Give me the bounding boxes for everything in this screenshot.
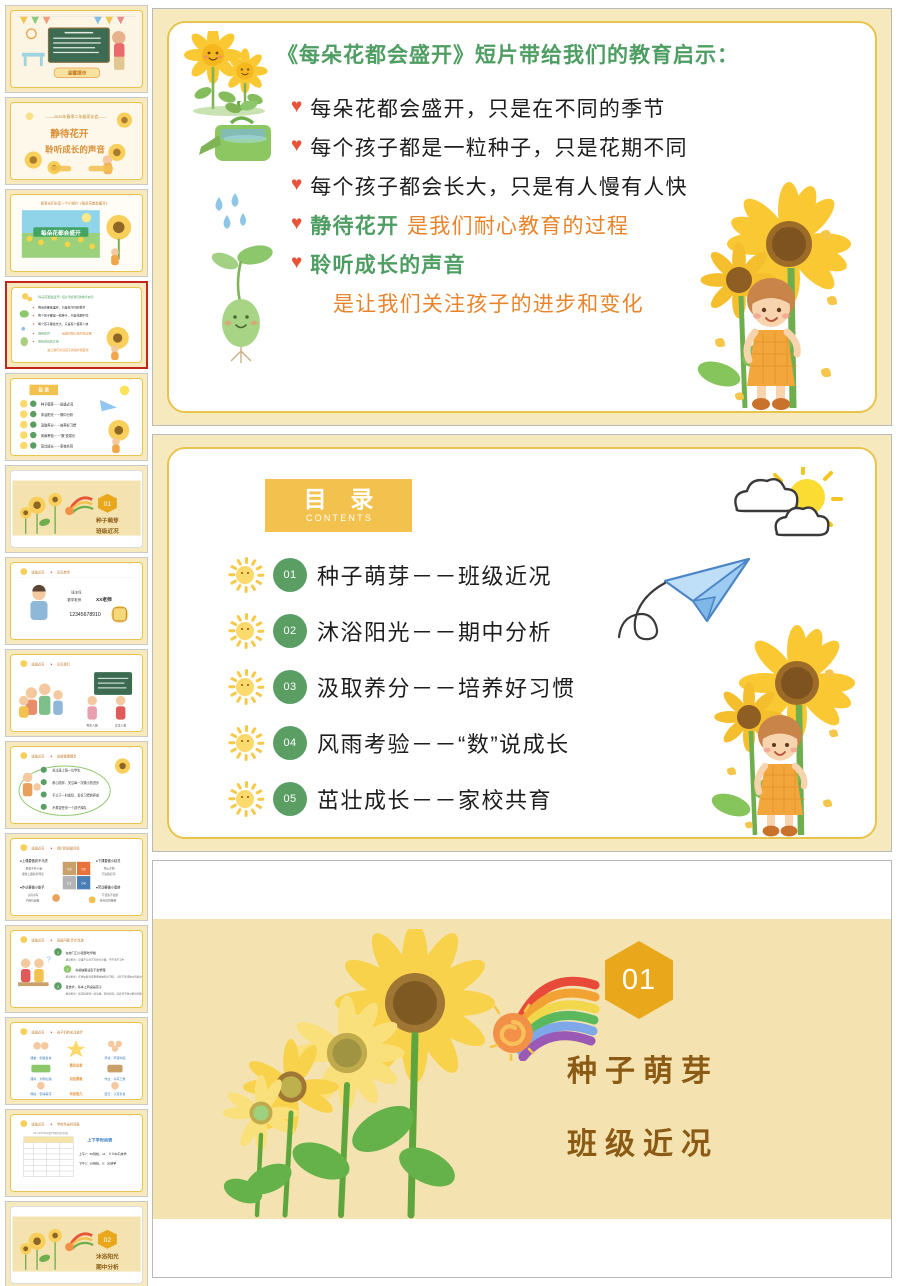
contents-header: 目 录 CONTENTS [265, 479, 412, 532]
svg-text:茁壮成长－－家校共育: 茁壮成长－－家校共育 [41, 443, 74, 448]
svg-text:课堂上跟着老师走: 课堂上跟着老师走 [22, 872, 44, 876]
svg-text:班级近况: 班级近况 [31, 937, 45, 942]
svg-text:●下课要做小精灵: ●下课要做小精灵 [96, 858, 121, 863]
svg-text:在校门口小卖部吃早餐: 在校门口小卖部吃早餐 [66, 950, 96, 955]
svg-text:♥: ♥ [33, 322, 35, 326]
smiling-sun-icon [227, 557, 263, 593]
insight-bullet-5-text: 聆听成长的声音 [310, 249, 465, 279]
svg-text:《每朵花都会盛开》短片带给我们的教育启示:: 《每朵花都会盛开》短片带给我们的教育启示: [36, 294, 94, 299]
svg-text:每个孩子都是一粒种子，只是花期不同: 每个孩子都是一粒种子，只是花期不同 [38, 313, 88, 318]
contents-item-04-number: 04 [273, 726, 307, 760]
svg-text:02: 02 [82, 867, 86, 871]
slide-section-01[interactable]: 01 种子萌芽 班级近况 [152, 860, 892, 1278]
slide-thumbnail-meeting-rules[interactable]: 温馨提示 [5, 5, 148, 93]
presentation-editor: 温馨提示 ——2025年春季二年级家长会—— 静待花开 聆听成长的声音 [0, 0, 900, 1286]
insight-bullet-3: ♥ 每个孩子都会长大，只是有人慢有人快 [291, 171, 831, 201]
paper-plane-icon [601, 545, 767, 687]
raindrops-icon [207, 191, 259, 243]
smiling-sun-icon [227, 725, 263, 761]
svg-text:班级近况: 班级近况 [31, 1029, 45, 1034]
svg-text:值日：认真负责: 值日：认真负责 [104, 1091, 125, 1096]
thumbnail-art-highlights: 班级近况 ♥ 孩子们的关注进步 课堂：积极发言 善良友爱 早读：声音响亮 课间：… [11, 1023, 142, 1099]
svg-text:♥: ♥ [50, 1030, 52, 1034]
svg-text:女生人数: 女生人数 [115, 723, 127, 727]
svg-text:聆听成长的声音: 聆听成长的声音 [38, 339, 59, 344]
sprout-icon [197, 239, 289, 369]
svg-text:建议家长：和学校老师一起沟通，及时反馈，培养孩子独立解决的能: 建议家长：和学校老师一起沟通，及时反馈，培养孩子独立解决的能力 [66, 992, 142, 996]
slide-stage: 《每朵花都会盛开》短片带给我们的教育启示： ♥ 每朵花都会盛开，只是在不同的季节… [152, 0, 900, 1286]
svg-text:举止文明: 举止文明 [104, 866, 115, 870]
svg-text:●作业要做小能手: ●作业要做小能手 [20, 884, 45, 889]
contents-item-01[interactable]: 01 种子萌芽－－班级近况 [227, 547, 576, 603]
svg-text:班级近况: 班级近况 [96, 527, 119, 535]
svg-text:♥: ♥ [50, 570, 52, 574]
svg-text:班级近况: 班级近况 [31, 845, 45, 850]
slide-insights-title: 《每朵花都会盛开》短片带给我们的教育启示： [277, 39, 739, 69]
slide-thumbnail-problems[interactable]: 班级近况 ♥ 班级问题 步步改进 1 在校门口小卖部吃早餐 建议家长：尽量不让孩… [5, 925, 148, 1013]
slide-thumbnail-cover[interactable]: ——2025年春季二年级家长会—— 静待花开 聆听成长的声音 [5, 97, 148, 185]
contents-item-05-number: 05 [273, 782, 307, 816]
watering-can-icon [197, 101, 289, 175]
sun-cloud-icon [715, 467, 845, 559]
svg-text:任劳任怨精神: 任劳任怨精神 [100, 899, 117, 903]
thumbnail-art-schedule: 班级近况 ♥ 学校作息时间表 XX小学XX学年第X学期作息时间表 上下学时间表 … [11, 1115, 142, 1191]
svg-text:作业：书写工整: 作业：书写工整 [104, 1076, 125, 1081]
insight-bullet-5: ♥ 聆听成长的声音 [291, 249, 831, 279]
thumbnail-art-contents: 目 录 种子萌芽－－班级近况 沐浴阳光－－期中分析 汲取养分－－培养好习惯 风雨… [11, 379, 142, 455]
thumbnail-art-section-02: 02 沐浴阳光 期中分析 [11, 1207, 142, 1283]
svg-text:早读：声音响亮: 早读：声音响亮 [104, 1055, 125, 1060]
svg-text:建议家长：在家中要养成整理收纳的好习惯，让孩子养成独立的能力: 建议家长：在家中要养成整理收纳的好习惯，让孩子养成独立的能力 [66, 975, 142, 979]
insight-bullet-4: ♥ 静待花开 是我们耐心教育的过程 [291, 210, 831, 240]
svg-text:班级近况: 班级近况 [31, 1121, 45, 1126]
svg-text:♥: ♥ [33, 314, 35, 318]
svg-text:♥: ♥ [50, 1122, 52, 1126]
svg-text:班级问题 步步改进: 班级问题 步步改进 [57, 937, 84, 942]
smiling-sun-icon [227, 781, 263, 817]
svg-text:03: 03 [67, 867, 71, 871]
svg-text:孩子们的关注进步: 孩子们的关注进步 [57, 1029, 84, 1034]
svg-text:每朵花都会盛开，只是在不同的季节: 每朵花都会盛开，只是在不同的季节 [38, 304, 85, 309]
svg-text:学校作息时间表: 学校作息时间表 [57, 1121, 80, 1126]
sunflower-icon [183, 31, 279, 119]
svg-text:——2025年春季二年级家长会——: ——2025年春季二年级家长会—— [46, 114, 106, 119]
thumbnail-art-section-01: 01 种子萌芽 班级近况 [11, 471, 142, 547]
thumbnail-art-problems: 班级近况 ♥ 班级问题 步步改进 1 在校门口小卖部吃早餐 建议家长：尽量不让孩… [11, 931, 142, 1007]
slide-thumbnail-video[interactable]: 和家长们分享一个小短片《每朵花都会盛开》 每朵花都会盛开 [5, 189, 148, 277]
svg-text:有创造力: 有创造力 [70, 1091, 83, 1096]
svg-text:12345678910: 12345678910 [69, 612, 101, 618]
svg-text:思维不开小差: 思维不开小差 [26, 866, 43, 870]
thumbnail-art-class-members: 班级近况 ♥ 见见我们 男生人数 [11, 655, 142, 731]
svg-text:01: 01 [104, 501, 112, 508]
svg-text:善良友爱: 善良友爱 [70, 1063, 84, 1068]
svg-text:种子萌芽－－班级近况: 种子萌芽－－班级近况 [41, 402, 74, 407]
svg-text:02: 02 [104, 1237, 112, 1244]
svg-text:课堂：积极发言: 课堂：积极发言 [30, 1055, 51, 1060]
svg-text:我们的班级目标: 我们的班级目标 [57, 845, 80, 850]
contents-item-01-label: 种子萌芽－－班级近况 [317, 559, 552, 591]
section-title-line1: 种子萌芽 [567, 1046, 719, 1090]
section-title-line2: 班级近况 [567, 1119, 719, 1163]
slide-thumbnail-class-goal[interactable]: 班级近况 ♥ 班级管理理念 关注班上每一位学生 耐心陪伴，关注每一次微小的进步 … [5, 741, 148, 829]
slide-insights-bullet-list: ♥ 每朵花都会盛开，只是在不同的季节 ♥ 每个孩子都是一粒种子，只是花期不同 ♥… [291, 93, 831, 318]
svg-text:上下学时间表: 上下学时间表 [87, 1137, 113, 1143]
contents-item-02-label: 沐浴阳光－－期中分析 [317, 615, 552, 647]
svg-text:课间：文明礼貌: 课间：文明礼貌 [30, 1076, 51, 1081]
slide-thumbnail-contents[interactable]: 目 录 种子萌芽－－班级近况 沐浴阳光－－期中分析 汲取养分－－培养好习惯 风雨… [5, 373, 148, 461]
svg-text:书桌抽屉凌乱不会整理: 书桌抽屉凌乱不会整理 [75, 967, 105, 972]
thumbnail-art-video: 和家长们分享一个小短片《每朵花都会盛开》 每朵花都会盛开 [11, 195, 142, 271]
thumbnail-art-teacher-intro: 班级近况 ♥ 见见老师 班主任 数学老师 XX老师 12345678910 [11, 563, 142, 639]
section-number-badge: 01 [605, 941, 673, 1019]
svg-text:3: 3 [57, 985, 59, 989]
svg-text:♥: ♥ [50, 754, 52, 758]
smiling-sun-icon [227, 669, 263, 705]
slide-insights-card: 《每朵花都会盛开》短片带给我们的教育启示： ♥ 每朵花都会盛开，只是在不同的季节… [167, 21, 877, 413]
contents-item-03[interactable]: 03 汲取养分－－培养好习惯 [227, 659, 576, 715]
insight-bullet-4-lead: 静待花开 [310, 210, 399, 240]
thumbnail-art-cover: ——2025年春季二年级家长会—— 静待花开 聆听成长的声音 [11, 103, 142, 179]
insight-bullet-2: ♥ 每个孩子都是一粒种子，只是花期不同 [291, 132, 831, 162]
contents-title-cn: 目 录 [295, 488, 383, 511]
svg-text:沐浴阳光－－期中分析: 沐浴阳光－－期中分析 [41, 412, 74, 417]
insight-bullet-2-text: 每个孩子都是一粒种子，只是花期不同 [310, 132, 687, 162]
contents-item-01-number: 01 [273, 558, 307, 592]
svg-text:?: ? [47, 954, 51, 963]
svg-text:不止于一时成绩，着重习惯的养成: 不止于一时成绩，着重习惯的养成 [52, 792, 99, 797]
slide-thumbnail-schedule[interactable]: 班级近况 ♥ 学校作息时间表 XX小学XX学年第X学期作息时间表 上下学时间表 … [5, 1109, 148, 1197]
slide-contents-card: 目 录 CONTENTS 01 [167, 447, 877, 839]
hexagon-shape: 01 [605, 941, 673, 1019]
svg-text:自信勇敢: 自信勇敢 [70, 1076, 84, 1081]
svg-text:爱告状，基本上同桌是孩子: 爱告状，基本上同桌是孩子 [66, 984, 102, 989]
thumbnail-art-insights: 《每朵花都会盛开》短片带给我们的教育启示: ♥每朵花都会盛开，只是在不同的季节 … [12, 288, 141, 362]
contents-item-04[interactable]: 04 风雨考验－－“数”说成长 [227, 715, 576, 771]
svg-text:班级管理理念: 班级管理理念 [57, 753, 77, 758]
svg-text:两操：安静有序: 两操：安静有序 [30, 1091, 51, 1096]
contents-item-05[interactable]: 05 茁壮成长－－家校共育 [227, 771, 576, 827]
svg-text:认真书写: 认真书写 [28, 893, 39, 897]
svg-text:班主任: 班主任 [71, 589, 82, 594]
svg-text:班级近况: 班级近况 [31, 753, 45, 758]
slide-thumbnail-highlights[interactable]: 班级近况 ♥ 孩子们的关注进步 课堂：积极发言 善良友爱 早读：声音响亮 课间：… [5, 1017, 148, 1105]
svg-text:●上课要做到不马虎: ●上课要做到不马虎 [20, 858, 48, 863]
thumbnail-art-meeting-rules: 温馨提示 [11, 11, 142, 87]
svg-text:期中分析: 期中分析 [96, 1263, 119, 1271]
svg-text:●劳动要做小蜜蜂: ●劳动要做小蜜蜂 [96, 884, 121, 889]
svg-text:♥: ♥ [50, 662, 52, 666]
heart-icon: ♥ [291, 136, 302, 155]
contents-list: 01 种子萌芽－－班级近况 02 [227, 547, 576, 827]
slide-thumbnail-panel[interactable]: 温馨提示 ——2025年春季二年级家长会—— 静待花开 聆听成长的声音 [0, 0, 152, 1286]
slide-thumbnail-class-members[interactable]: 班级近况 ♥ 见见我们 男生人数 [5, 649, 148, 737]
svg-text:静待花开: 静待花开 [50, 128, 89, 140]
heart-icon: ♥ [291, 175, 302, 194]
slide-contents[interactable]: 目 录 CONTENTS 01 [152, 434, 892, 852]
svg-text:见见老师: 见见老师 [57, 569, 71, 574]
svg-text:♥: ♥ [50, 846, 52, 850]
thumbnail-art-class-goal: 班级近况 ♥ 班级管理理念 关注班上每一位学生 耐心陪伴，关注每一次微小的进步 … [11, 747, 142, 823]
svg-text:01: 01 [67, 882, 71, 886]
svg-text:汲取养分－－培养好习惯: 汲取养分－－培养好习惯 [41, 423, 77, 428]
svg-text:是我们耐心教育的过程: 是我们耐心教育的过程 [62, 330, 92, 335]
svg-text:班级近况: 班级近况 [31, 661, 45, 666]
section-band [153, 919, 891, 1219]
svg-text:和家长们分享一个小短片《每朵花都会盛开》: 和家长们分享一个小短片《每朵花都会盛开》 [41, 201, 109, 206]
contents-item-04-label: 风雨考验－－“数”说成长 [317, 727, 570, 759]
slide-thumbnail-teacher-intro[interactable]: 班级近况 ♥ 见见老师 班主任 数学老师 XX老师 12345678910 [5, 557, 148, 645]
contents-title-en: CONTENTS [304, 513, 373, 523]
slide-thumbnail-section-01[interactable]: 01 种子萌芽 班级近况 [5, 465, 148, 553]
svg-text:种子萌芽: 种子萌芽 [95, 516, 119, 524]
svg-text:不甘落不怕累: 不甘落不怕累 [102, 893, 119, 897]
svg-text:♥: ♥ [33, 331, 35, 335]
svg-text:♥: ♥ [33, 305, 35, 309]
svg-text:不希望任何一个孩子掉队: 不希望任何一个孩子掉队 [52, 805, 87, 810]
heart-icon: ♥ [291, 214, 302, 233]
insight-bullet-1: ♥ 每朵花都会盛开，只是在不同的季节 [291, 93, 831, 123]
insight-bullet-1-text: 每朵花都会盛开，只是在不同的季节 [310, 93, 665, 123]
contents-item-03-label: 汲取养分－－培养好习惯 [317, 671, 576, 703]
svg-text:班级近况: 班级近况 [31, 569, 45, 574]
svg-text:下午2：30到校，5：30放学: 下午2：30到校，5：30放学 [79, 1160, 116, 1165]
slide-insights[interactable]: 《每朵花都会盛开》短片带给我们的教育启示： ♥ 每朵花都会盛开，只是在不同的季节… [152, 8, 892, 426]
insight-bullet-3-text: 每个孩子都会长大，只是有人慢有人快 [310, 171, 687, 201]
svg-text:♥: ♥ [50, 938, 52, 942]
svg-text:每朵花都会盛开: 每朵花都会盛开 [41, 229, 81, 237]
svg-text:建议家长：尽量不让孩子在外吃早餐，不干净不卫生: 建议家长：尽量不让孩子在外吃早餐，不干净不卫生 [66, 957, 125, 961]
svg-text:♥: ♥ [33, 340, 35, 344]
contents-item-03-number: 03 [273, 670, 307, 704]
section-number: 01 [622, 964, 656, 997]
girl-with-sunflower-icon [687, 619, 869, 837]
smiling-sun-icon [227, 613, 263, 649]
heart-icon: ♥ [291, 253, 302, 272]
slide-thumbnail-section-02[interactable]: 02 沐浴阳光 期中分析 [5, 1201, 148, 1286]
svg-text:见见我们: 见见我们 [57, 661, 70, 666]
svg-text:风雨考验－－“数”说成长: 风雨考验－－“数”说成长 [41, 433, 76, 438]
svg-text:耐心陪伴，关注每一次微小的进步: 耐心陪伴，关注每一次微小的进步 [52, 780, 99, 785]
slide-thumbnail-insights[interactable]: 《每朵花都会盛开》短片带给我们的教育启示: ♥每朵花都会盛开，只是在不同的季节 … [5, 281, 148, 369]
svg-text:上午7：50到校，11：００中午放学: 上午7：50到校，11：００中午放学 [79, 1151, 127, 1156]
svg-text:是让我们关注孩子的进步和变化: 是让我们关注孩子的进步和变化 [47, 347, 88, 352]
svg-text:04: 04 [82, 882, 86, 886]
svg-text:聆听成长的声音: 聆听成长的声音 [45, 143, 105, 154]
contents-item-02-number: 02 [273, 614, 307, 648]
svg-text:1: 1 [57, 951, 59, 955]
svg-text:数学老师: 数学老师 [67, 597, 81, 602]
svg-text:沐浴阳光: 沐浴阳光 [96, 1252, 119, 1260]
insight-bullet-4-tail: 是我们耐心教育的过程 [407, 210, 629, 240]
svg-text:不追跑打闹: 不追跑打闹 [102, 872, 116, 876]
heart-icon: ♥ [291, 97, 302, 116]
svg-text:关注班上每一位学生: 关注班上每一位学生 [52, 768, 80, 773]
contents-item-05-label: 茁壮成长－－家校共育 [317, 783, 552, 815]
contents-item-02[interactable]: 02 沐浴阳光－－期中分析 [227, 603, 576, 659]
insight-closing-line: 是让我们关注孩子的进步和变化 [333, 288, 831, 318]
svg-text:男生人数: 男生人数 [86, 723, 98, 727]
svg-text:静待花开: 静待花开 [38, 330, 50, 335]
svg-text:2: 2 [67, 968, 69, 972]
svg-text:不拖拉漏做: 不拖拉漏做 [26, 899, 40, 903]
svg-text:每个孩子都会长大，只是有人慢有人快: 每个孩子都会长大，只是有人慢有人快 [38, 321, 88, 326]
slide-thumbnail-class-targets[interactable]: 班级近况 ♥ 我们的班级目标 03 02 01 04 ●上课要做到不马虎 思维不… [5, 833, 148, 921]
thumbnail-art-class-targets: 班级近况 ♥ 我们的班级目标 03 02 01 04 ●上课要做到不马虎 思维不… [11, 839, 142, 915]
